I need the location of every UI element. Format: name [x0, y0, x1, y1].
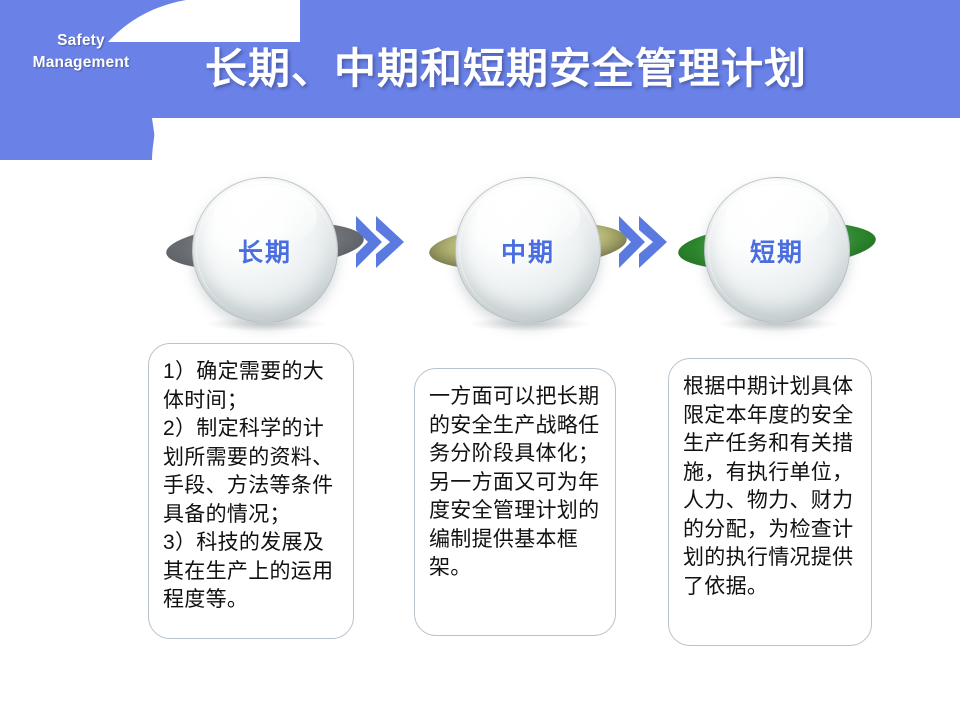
detail-card-short-term: 根据中期计划具体限定本年度的安全生产任务和有关措施，有执行单位，人力、物力、财力…	[668, 358, 872, 646]
orb-short-term[interactable]: 短期	[692, 175, 862, 325]
orb-mid-term[interactable]: 中期	[443, 175, 613, 325]
detail-card-mid-term: 一方面可以把长期的安全生产战略任务分阶段具体化； 另一方面又可为年度安全管理计划…	[414, 368, 616, 636]
detail-card-long-term: 1）确定需要的大体时间； 2）制定科学的计划所需要的资料、手段、方法等条件具备的…	[148, 343, 354, 639]
header-banner: Safety Management 长期、中期和短期安全管理计划	[0, 0, 960, 175]
orb-label-short-term: 短期	[692, 233, 862, 269]
header-left-block	[0, 118, 158, 160]
stage-orbs-row: 长期 中期 短期	[0, 175, 960, 330]
slide-canvas: Safety Management 长期、中期和短期安全管理计划 长期 中期 短…	[0, 0, 960, 720]
brand-label: Safety Management	[6, 30, 156, 74]
orb-label-long-term: 长期	[180, 233, 350, 269]
chevron-right-icon	[615, 212, 671, 278]
header-bottom-carve	[152, 118, 960, 175]
page-title: 长期、中期和短期安全管理计划	[205, 48, 925, 90]
chevron-right-icon	[352, 212, 408, 278]
orb-long-term[interactable]: 长期	[180, 175, 350, 325]
orb-label-mid-term: 中期	[443, 233, 613, 269]
